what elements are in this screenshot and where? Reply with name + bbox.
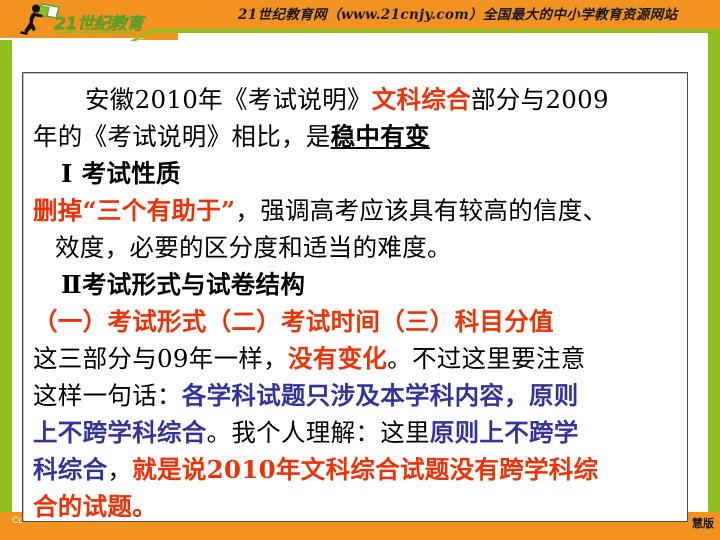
right-accent-strip [708, 33, 720, 512]
slide-content-box: 安徽2010年《考试说明》文科综合部分与2009年的《考试说明》相比，是稳中有变… [22, 72, 688, 522]
header-green-rule [152, 29, 720, 33]
slide-line: 效度，必要的区分度和适当的难度。 [33, 229, 681, 266]
slide-line: 这样一句话：各学科试题只涉及本学科内容，原则 [33, 377, 681, 414]
footer-edition-text: 慧版 [692, 515, 714, 531]
slide-text-run: 就是说2010年文科综合试题没有跨学科综 [132, 455, 598, 484]
slide-line: 这三部分与09年一样，没有变化。不过这里要注意 [33, 340, 681, 377]
left-accent-strip [0, 40, 12, 512]
slide-text-run: 。我个人理解：这里 [207, 418, 430, 447]
slide-text-run: ，强调高考应该具有较高的信度、 [235, 196, 607, 225]
slide-line: Ⅰ 考试性质 [33, 155, 681, 192]
slide-text-run: 稳中有变 [331, 122, 430, 151]
slide-text-run: 这样一句话： [33, 381, 182, 410]
slide-text-run: 合的试题。 [33, 492, 157, 521]
slide-text-run: 效度，必要的区分度和适当的难度。 [55, 233, 452, 262]
slide-body-text: 安徽2010年《考试说明》文科综合部分与2009年的《考试说明》相比，是稳中有变… [33, 81, 681, 522]
logo-url: www.21cnjy.com [56, 27, 134, 36]
slide-text-run: 没有变化 [288, 344, 387, 373]
slide-text-run: ， [107, 455, 132, 484]
slide-line: Ⅱ考试形式与试卷结构 [33, 266, 681, 303]
slide-text-run: Ⅱ考试形式与试卷结构 [61, 270, 305, 299]
slide-line: 安徽2010年《考试说明》文科综合部分与2009 [33, 81, 681, 118]
slide-text-run: 上不跨学科综合 [33, 418, 207, 447]
slide-text-run: Ⅰ 考试性质 [61, 159, 181, 188]
slide-text-run: 文科综合 [372, 85, 471, 114]
slide-text-run: 各学科试题只涉及本学科内容，原则 [182, 381, 579, 410]
slide-line: （一）考试形式（二）考试时间（三）科目分值 [33, 303, 681, 340]
slide-text-run: 安徽2010年《考试说明》 [85, 85, 372, 114]
slide-line: 合的试题。 [33, 488, 681, 522]
slide-text-run: 部分与2009 [471, 85, 609, 114]
site-logo[interactable]: 21世纪教育 www.21cnjy.com [8, 2, 178, 38]
slide-text-run: （一）考试形式（二）考试时间（三）科目分值 [33, 307, 554, 336]
slide-text-run: 原则上不跨学 [430, 418, 579, 447]
slide-text-run: 这三部分与09年一样， [33, 344, 288, 373]
slide-text-run: 科综合 [33, 455, 107, 484]
slide-line: 上不跨学科综合。我个人理解：这里原则上不跨学 [33, 414, 681, 451]
slide-line: 删掉“三个有助于”，强调高考应该具有较高的信度、 [33, 192, 681, 229]
slide-text-run: 年的《考试说明》相比，是 [33, 122, 331, 151]
site-tagline: 21世纪教育网（www.21cnjy.com）全国最大的中小学教育资源网站 [238, 4, 716, 26]
slide-text-run: 。不过这里要注意 [387, 344, 585, 373]
slide-text-run: 删掉“三个有助于” [33, 196, 235, 225]
slide-line: 年的《考试说明》相比，是稳中有变 [33, 118, 681, 155]
slide-line: 科综合，就是说2010年文科综合试题没有跨学科综 [33, 451, 681, 488]
slide-content-inner: 安徽2010年《考试说明》文科综合部分与2009年的《考试说明》相比，是稳中有变… [23, 73, 687, 521]
